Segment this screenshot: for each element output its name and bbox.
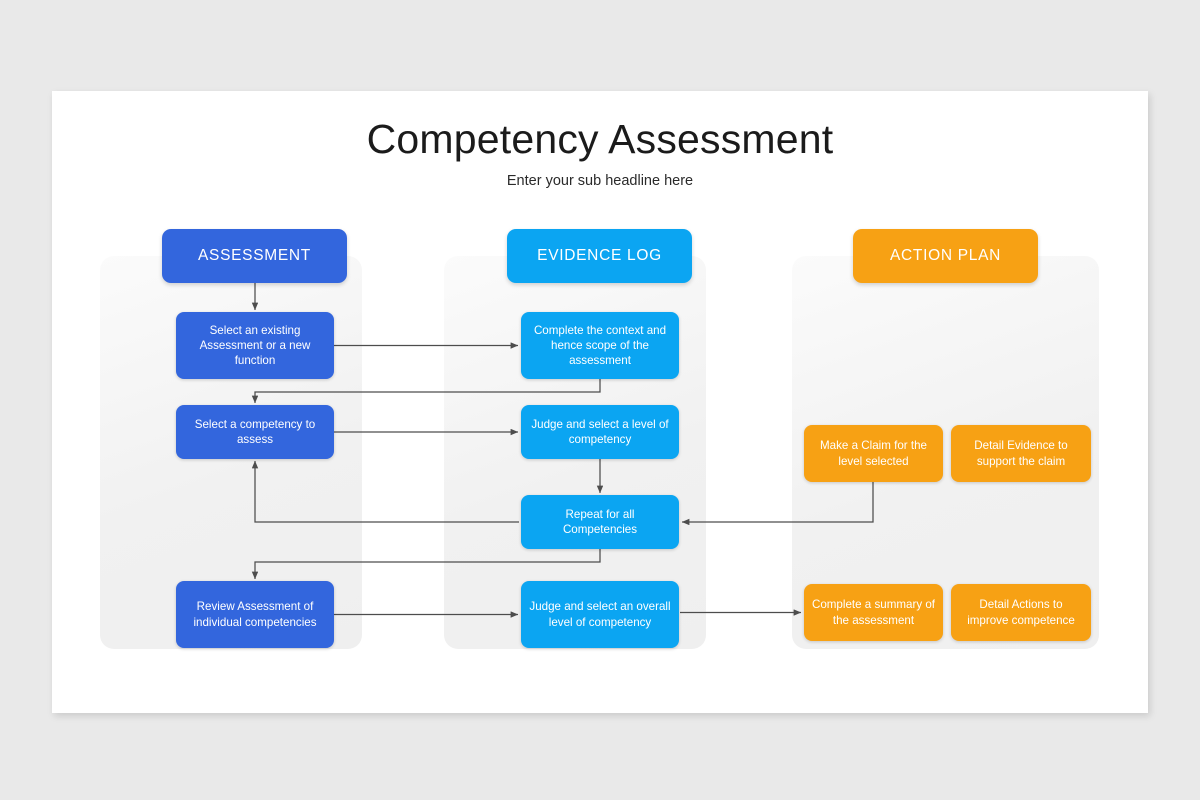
column-header-evidence[interactable]: EVIDENCE LOG — [507, 229, 692, 283]
node-label: Review Assessment of individual competen… — [183, 599, 327, 630]
node-detail-actions[interactable]: Detail Actions to improve competence — [951, 584, 1091, 641]
node-label: Repeat for all Competencies — [528, 507, 672, 538]
node-label: Complete the context and hence scope of … — [528, 323, 672, 369]
node-label: Complete a summary of the assessment — [811, 597, 936, 628]
node-label: Select a competency to assess — [183, 417, 327, 448]
page-subtitle: Enter your sub headline here — [52, 173, 1148, 189]
node-label: Judge and select a level of competency — [528, 417, 672, 448]
node-label: Detail Actions to improve competence — [958, 597, 1084, 628]
node-judge-level[interactable]: Judge and select a level of competency — [521, 405, 679, 459]
column-header-assessment-label: ASSESSMENT — [198, 247, 311, 265]
node-label: Select an existing Assessment or a new f… — [183, 323, 327, 369]
node-detail-evidence[interactable]: Detail Evidence to support the claim — [951, 425, 1091, 482]
node-select-existing-assessment[interactable]: Select an existing Assessment or a new f… — [176, 312, 334, 379]
node-select-competency[interactable]: Select a competency to assess — [176, 405, 334, 459]
node-judge-overall-level[interactable]: Judge and select an overall level of com… — [521, 581, 679, 648]
node-repeat-competencies[interactable]: Repeat for all Competencies — [521, 495, 679, 549]
page-title: Competency Assessment — [52, 116, 1148, 163]
node-label: Make a Claim for the level selected — [811, 438, 936, 469]
node-label: Judge and select an overall level of com… — [528, 599, 672, 630]
node-label: Detail Evidence to support the claim — [958, 438, 1084, 469]
column-header-action[interactable]: ACTION PLAN — [853, 229, 1038, 283]
node-complete-context[interactable]: Complete the context and hence scope of … — [521, 312, 679, 379]
slide-card: Competency Assessment Enter your sub hea… — [52, 91, 1148, 713]
node-complete-summary[interactable]: Complete a summary of the assessment — [804, 584, 943, 641]
column-header-action-label: ACTION PLAN — [890, 247, 1001, 265]
node-review-assessment[interactable]: Review Assessment of individual competen… — [176, 581, 334, 648]
column-header-assessment[interactable]: ASSESSMENT — [162, 229, 347, 283]
node-make-claim[interactable]: Make a Claim for the level selected — [804, 425, 943, 482]
column-header-evidence-label: EVIDENCE LOG — [537, 247, 662, 265]
